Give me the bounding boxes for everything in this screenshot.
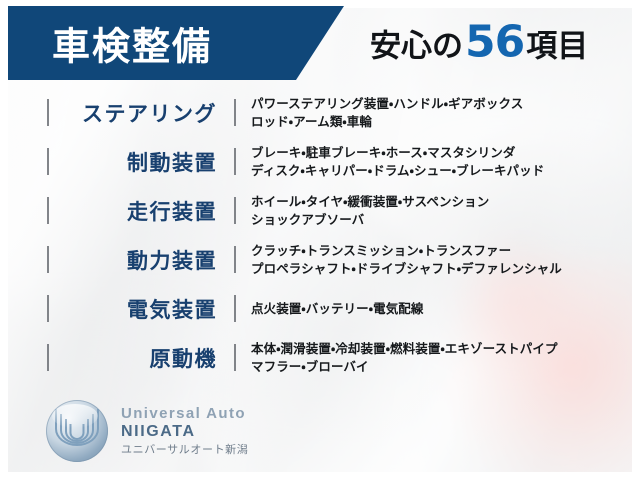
headline-suffix: 項目 [526, 21, 588, 66]
bullet-tick-icon [47, 148, 49, 175]
detail-line-2: ロッド・アーム類・車輪 [251, 113, 632, 130]
detail-line-1: 本体・潤滑装置・冷却装置・燃料装置・エキゾーストパイプ [251, 341, 558, 356]
category-label: 動力装置 [49, 245, 227, 275]
detail-line-2: マフラー・ブローバイ [251, 358, 632, 375]
divider-tick-icon [234, 148, 236, 175]
category-label: 原動機 [49, 343, 227, 373]
category-label: 制動装置 [49, 147, 227, 177]
category-detail: クラッチ・トランスミッション・トランスファー プロペラシャフト・ドライブシャフト… [236, 242, 632, 277]
universal-auto-emblem-icon [46, 400, 108, 462]
category-label: 走行装置 [49, 196, 227, 226]
logo-line-1: Universal Auto [121, 405, 248, 423]
category-detail: ホイール・タイヤ・緩衝装置・サスペンション ショックアブソーバ [236, 193, 632, 228]
list-item: 制動装置 ブレーキ・駐車ブレーキ・ホース・マスタシリンダ ディスク・キャリパー・… [8, 137, 632, 186]
detail-line-1: 点火装置・バッテリー・電気配線 [251, 301, 424, 316]
list-item: 動力装置 クラッチ・トランスミッション・トランスファー プロペラシャフト・ドライ… [8, 235, 632, 284]
page-title: 車検整備 [52, 16, 212, 71]
detail-line-2: ショックアブソーバ [251, 211, 632, 228]
emblem-gloss [52, 404, 98, 428]
list-item: 電気装置 点火装置・バッテリー・電気配線 [8, 284, 632, 333]
logo-wordmark: Universal Auto NIIGATA ユニバーサルオート新潟 [121, 405, 248, 457]
list-item: ステアリング パワーステアリング装置・ハンドル・ギアボックス ロッド・アーム類・… [8, 88, 632, 137]
list-item: 原動機 本体・潤滑装置・冷却装置・燃料装置・エキゾーストパイプ マフラー・ブロー… [8, 333, 632, 382]
header: 車検整備 安心の 56 項目 [8, 6, 632, 80]
divider-tick-icon [234, 99, 236, 126]
list-item: 走行装置 ホイール・タイヤ・緩衝装置・サスペンション ショックアブソーバ [8, 186, 632, 235]
headline-number: 56 [463, 23, 526, 63]
detail-line-1: パワーステアリング装置・ハンドル・ギアボックス [251, 96, 523, 111]
divider-tick-icon [234, 295, 236, 322]
category-label: 電気装置 [49, 294, 227, 324]
logo-line-2: NIIGATA [121, 423, 248, 442]
dealer-logo: Universal Auto NIIGATA ユニバーサルオート新潟 [46, 400, 248, 462]
bullet-tick-icon [47, 197, 49, 224]
logo-line-3: ユニバーサルオート新潟 [121, 444, 248, 457]
detail-line-1: クラッチ・トランスミッション・トランスファー [251, 243, 511, 258]
detail-line-2: ディスク・キャリパー・ドラム・シュー・ブレーキパッド [251, 162, 632, 179]
category-label: ステアリング [49, 98, 227, 128]
bullet-tick-icon [47, 295, 49, 322]
category-detail: パワーステアリング装置・ハンドル・ギアボックス ロッド・アーム類・車輪 [236, 95, 632, 130]
bullet-tick-icon [47, 344, 49, 371]
category-detail: 点火装置・バッテリー・電気配線 [236, 300, 632, 317]
detail-line-1: ホイール・タイヤ・緩衝装置・サスペンション [251, 194, 489, 209]
detail-line-2: プロペラシャフト・ドライブシャフト・デファレンシャル [251, 260, 632, 277]
headline: 安心の 56 項目 [370, 21, 588, 66]
headline-prefix: 安心の [370, 21, 463, 66]
category-detail: ブレーキ・駐車ブレーキ・ホース・マスタシリンダ ディスク・キャリパー・ドラム・シ… [236, 144, 632, 179]
category-detail: 本体・潤滑装置・冷却装置・燃料装置・エキゾーストパイプ マフラー・ブローバイ [236, 340, 632, 375]
detail-line-1: ブレーキ・駐車ブレーキ・ホース・マスタシリンダ [251, 145, 515, 160]
bullet-tick-icon [47, 99, 49, 126]
divider-tick-icon [234, 344, 236, 371]
bullet-tick-icon [47, 246, 49, 273]
inspection-item-list: ステアリング パワーステアリング装置・ハンドル・ギアボックス ロッド・アーム類・… [8, 88, 632, 384]
vehicle-inspection-poster: 車検整備 安心の 56 項目 ステアリング パワーステアリング装置・ハンドル・ギ… [0, 0, 640, 480]
divider-tick-icon [234, 197, 236, 224]
divider-tick-icon [234, 246, 236, 273]
